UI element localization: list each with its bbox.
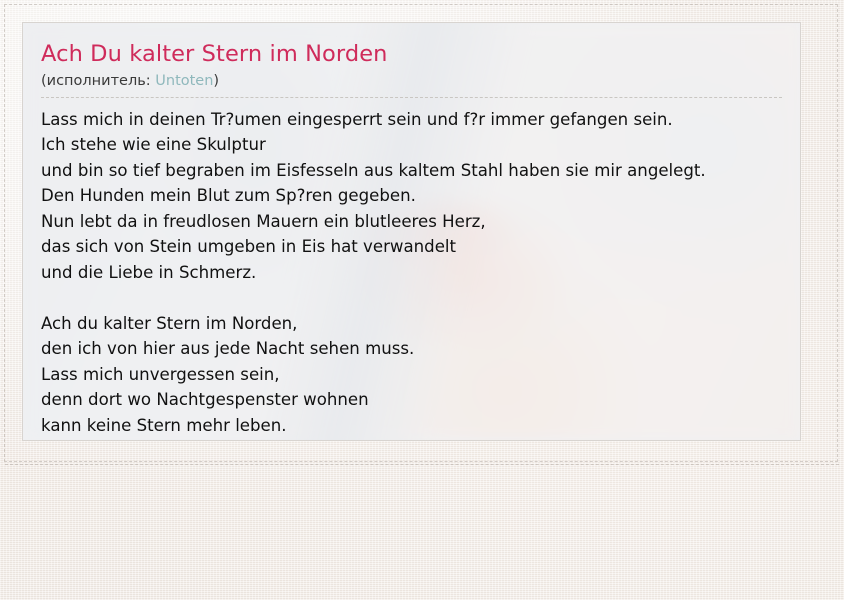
lyric-line: Den Hunden mein Blut zum Sp?ren gegeben. xyxy=(41,183,800,209)
song-title: Ach Du kalter Stern im Norden xyxy=(41,41,800,68)
lyric-line-blank xyxy=(41,285,800,311)
lyric-line: und bin so tief begraben im Eisfesseln a… xyxy=(41,158,800,184)
section-divider xyxy=(5,464,839,465)
lyric-line: Ich stehe wie eine Skulptur xyxy=(41,132,800,158)
lyric-line: Lass mich in deinen Tr?umen eingesperrt … xyxy=(41,107,800,133)
artist-label-prefix: (исполнитель: xyxy=(41,73,155,89)
lyric-line: Nun lebt da in freudlosen Mauern ein blu… xyxy=(41,209,800,235)
title-divider xyxy=(41,97,782,98)
artist-label-suffix: ) xyxy=(213,73,219,89)
lyric-line: den ich von hier aus jede Nacht sehen mu… xyxy=(41,336,800,362)
artist-line: (исполнитель: Untoten) xyxy=(41,72,800,91)
lyric-line: denn dort wo Nachtgespenster wohnen xyxy=(41,387,800,413)
lyric-line: das sich von Stein umgeben in Eis hat ve… xyxy=(41,234,800,260)
card-content: Ach Du kalter Stern im Norden (исполните… xyxy=(23,23,800,438)
artist-link[interactable]: Untoten xyxy=(155,73,213,89)
lyric-line: Lass mich unvergessen sein, xyxy=(41,362,800,388)
lyrics-text: Lass mich in deinen Tr?umen eingesperrt … xyxy=(41,107,800,439)
lyrics-card: Ach Du kalter Stern im Norden (исполните… xyxy=(22,22,801,441)
lyric-line: kann keine Stern mehr leben. xyxy=(41,413,800,439)
lyric-line: Ach du kalter Stern im Norden, xyxy=(41,311,800,337)
lyric-line: und die Liebe in Schmerz. xyxy=(41,260,800,286)
